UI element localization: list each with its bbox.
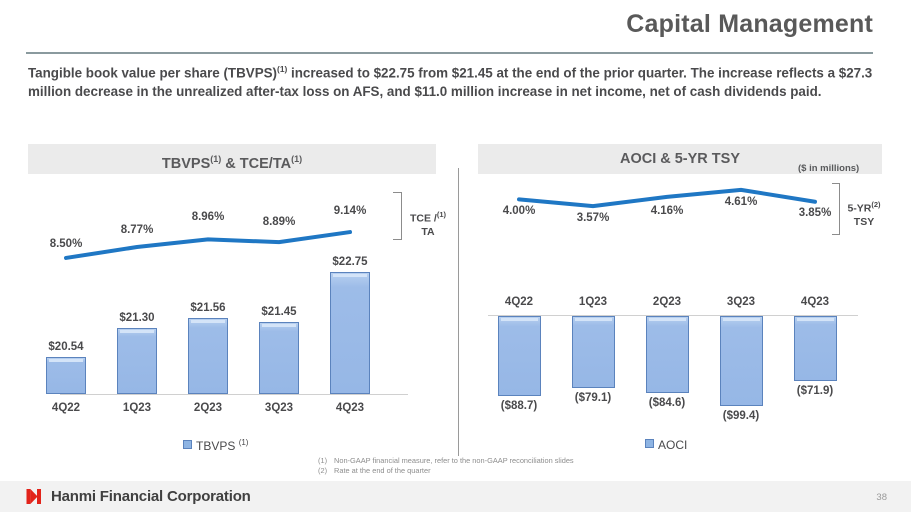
bar-value-label: ($88.7) (484, 400, 554, 412)
tsy-bracket-label: 5-YR(2)TSY (842, 198, 886, 229)
line-value-label: 3.57% (558, 212, 628, 224)
line-value-label: 8.96% (173, 211, 243, 223)
footnote-number: (2) (318, 466, 334, 476)
legend-label-aoci: AOCI (658, 438, 687, 452)
bar-value-label: $22.75 (315, 256, 385, 268)
x-axis-label: 3Q23 (706, 296, 776, 308)
footnote-text: Non-GAAP financial measure, refer to the… (334, 456, 574, 465)
footnote-row: (2)Rate at the end of the quarter (318, 466, 574, 476)
x-axis-label: 1Q23 (102, 402, 172, 414)
footnote-number: (1) (318, 456, 334, 466)
bar-value-label: $20.54 (31, 341, 101, 353)
page-title: Capital Management (626, 10, 873, 39)
line-value-label: 4.00% (484, 205, 554, 217)
legend-label-tbvps: TBVPS (1) (196, 439, 248, 453)
x-axis-label: 1Q23 (558, 296, 628, 308)
line-value-label: 4.16% (632, 205, 702, 217)
intro-paragraph: Tangible book value per share (TBVPS)(1)… (28, 60, 880, 101)
bar-tbvps (46, 357, 86, 394)
line-value-label: 8.50% (31, 238, 101, 250)
bar-tbvps (259, 322, 299, 394)
bar-aoci (794, 316, 837, 381)
x-axis-label: 4Q23 (780, 296, 850, 308)
footnotes: (1)Non-GAAP financial measure, refer to … (318, 456, 574, 476)
line-value-label: 8.77% (102, 224, 172, 236)
x-axis-line-left (60, 394, 408, 395)
footnote-text: Rate at the end of the quarter (334, 466, 431, 475)
tceta-bracket-label: TCE /(1)TA (404, 208, 452, 239)
tceta-bracket (393, 192, 402, 240)
units-note-aoci: ($ in millions) (798, 163, 859, 174)
line-value-label: 4.61% (706, 196, 776, 208)
line-value-label: 8.89% (244, 216, 314, 228)
tsy-bracket (832, 183, 840, 235)
footnote-row: (1)Non-GAAP financial measure, refer to … (318, 456, 574, 466)
x-axis-label: 4Q23 (315, 402, 385, 414)
bar-tbvps (330, 272, 370, 394)
panel-title-tbvps: TBVPS(1) & TCE/TA(1) (28, 144, 436, 179)
bar-aoci (720, 316, 763, 406)
bar-value-label: ($71.9) (780, 385, 850, 397)
panel-divider (458, 168, 459, 456)
x-axis-label: 2Q23 (173, 402, 243, 414)
title-divider-rule (26, 52, 873, 54)
page-number: 38 (876, 492, 887, 503)
bar-tbvps (188, 318, 228, 394)
bar-value-label: ($84.6) (632, 397, 702, 409)
legend-swatch-tbvps (183, 440, 192, 449)
bar-value-label: ($99.4) (706, 410, 776, 422)
bar-value-label: ($79.1) (558, 392, 628, 404)
x-axis-label: 2Q23 (632, 296, 702, 308)
bar-aoci (646, 316, 689, 393)
bar-value-label: $21.56 (173, 302, 243, 314)
legend-tbvps: TBVPS (1) (183, 438, 248, 453)
company-name: Hanmi Financial Corporation (51, 488, 251, 505)
bar-value-label: $21.30 (102, 312, 172, 324)
x-axis-label: 4Q22 (484, 296, 554, 308)
panel-header-tbvps: TBVPS(1) & TCE/TA(1) (28, 144, 436, 174)
bar-value-label: $21.45 (244, 306, 314, 318)
line-value-label: 9.14% (315, 205, 385, 217)
bar-aoci (572, 316, 615, 388)
brand-logo: Hanmi Financial Corporation (26, 488, 251, 505)
bar-tbvps (117, 328, 157, 394)
x-axis-label: 3Q23 (244, 402, 314, 414)
legend-aoci: AOCI (645, 438, 687, 452)
hanmi-m-mark-icon (26, 488, 45, 505)
x-axis-label: 4Q22 (31, 402, 101, 414)
bar-aoci (498, 316, 541, 396)
legend-swatch-aoci (645, 439, 654, 448)
